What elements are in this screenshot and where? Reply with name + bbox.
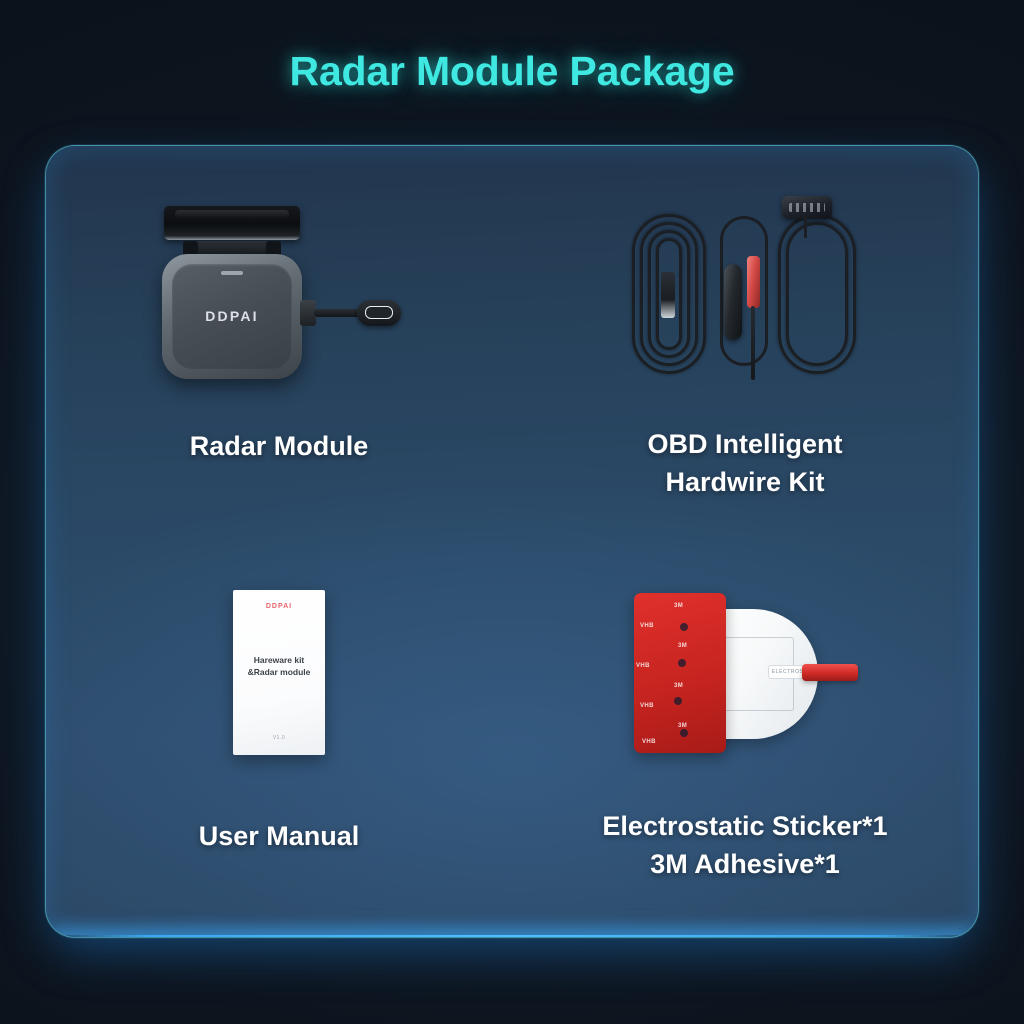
- adhesive-dot: [678, 659, 686, 667]
- pull-tab-icon: [802, 664, 858, 681]
- adhesive-dot: [674, 697, 682, 705]
- ddpai-logo: DDPAI: [205, 308, 259, 324]
- adhesive-mark: VHB: [636, 663, 650, 669]
- radar-module-illustration: DDPAI: [154, 188, 404, 403]
- item-user-manual: DDPAI Hareware kit &Radar module V1.0 Us…: [46, 542, 512, 938]
- adhesive-mark: VHB: [642, 739, 656, 745]
- radar-body: DDPAI: [162, 254, 302, 379]
- cable-coil-icon: [786, 222, 848, 366]
- adhesive-dot: [680, 729, 688, 737]
- manual-cover-title: Hareware kit &Radar module: [248, 654, 311, 680]
- obd2-connector-stem: [804, 216, 807, 238]
- item-caption: Radar Module: [190, 427, 369, 465]
- package-contents-panel: DDPAI Radar Module: [45, 145, 979, 938]
- adhesive-mark: VHB: [640, 623, 654, 629]
- inline-module-group: [718, 216, 772, 384]
- caption-line-1: Electrostatic Sticker*1: [602, 811, 887, 841]
- manual-cover-footer: V1.0: [233, 735, 325, 741]
- 3m-adhesive-pad-icon: 3MVHB3MVHB3MVHB3MVHB: [634, 593, 726, 753]
- obd2-connector-icon: [782, 196, 832, 219]
- page-title: Radar Module Package: [0, 48, 1024, 95]
- infographic-root: Radar Module Package DDPAI: [0, 0, 1024, 1024]
- item-obd-hardwire-kit: OBD Intelligent Hardwire Kit: [512, 146, 978, 542]
- usb-c-connector-icon: [357, 300, 401, 326]
- caption-line-2: Hardwire Kit: [665, 467, 824, 497]
- adhesive-mark: VHB: [640, 703, 654, 709]
- adhesive-mark: 3M: [674, 603, 683, 609]
- caption-line-2: 3M Adhesive*1: [650, 849, 840, 879]
- item-caption: Electrostatic Sticker*1 3M Adhesive*1: [602, 807, 887, 884]
- usb-plug-icon: [661, 272, 675, 318]
- mount-bracket-icon: [164, 206, 300, 240]
- adhesive-mark: 3M: [678, 723, 687, 729]
- item-caption: OBD Intelligent Hardwire Kit: [648, 425, 843, 502]
- items-grid: DDPAI Radar Module: [46, 146, 978, 937]
- manual-cover: DDPAI Hareware kit &Radar module V1.0: [233, 590, 325, 755]
- fuse-tap-icon: [747, 256, 760, 308]
- panel-bottom-glow: [56, 935, 968, 938]
- fuse-wire-icon: [751, 306, 755, 380]
- adhesive-dot: [680, 623, 688, 631]
- item-caption: User Manual: [199, 817, 360, 855]
- manual-title-line-2: &Radar module: [248, 667, 311, 677]
- control-module-icon: [724, 264, 742, 340]
- obd-kit-illustration: [630, 188, 860, 403]
- caption-line-1: OBD Intelligent: [648, 429, 843, 459]
- adhesive-mark: 3M: [674, 683, 683, 689]
- item-radar-module: DDPAI Radar Module: [46, 146, 512, 542]
- sticker-adhesive-illustration: ELECTROSTATIC 3MVHB3MVHB3MVHB3MVHB: [620, 570, 870, 775]
- user-manual-illustration: DDPAI Hareware kit &Radar module V1.0: [233, 570, 325, 775]
- manual-title-line-1: Hareware kit: [254, 655, 305, 665]
- item-electrostatic-sticker: ELECTROSTATIC 3MVHB3MVHB3MVHB3MVHB Elect…: [512, 542, 978, 938]
- radar-face: DDPAI: [172, 264, 292, 369]
- adhesive-mark: 3M: [678, 643, 687, 649]
- ddpai-logo: DDPAI: [266, 603, 292, 610]
